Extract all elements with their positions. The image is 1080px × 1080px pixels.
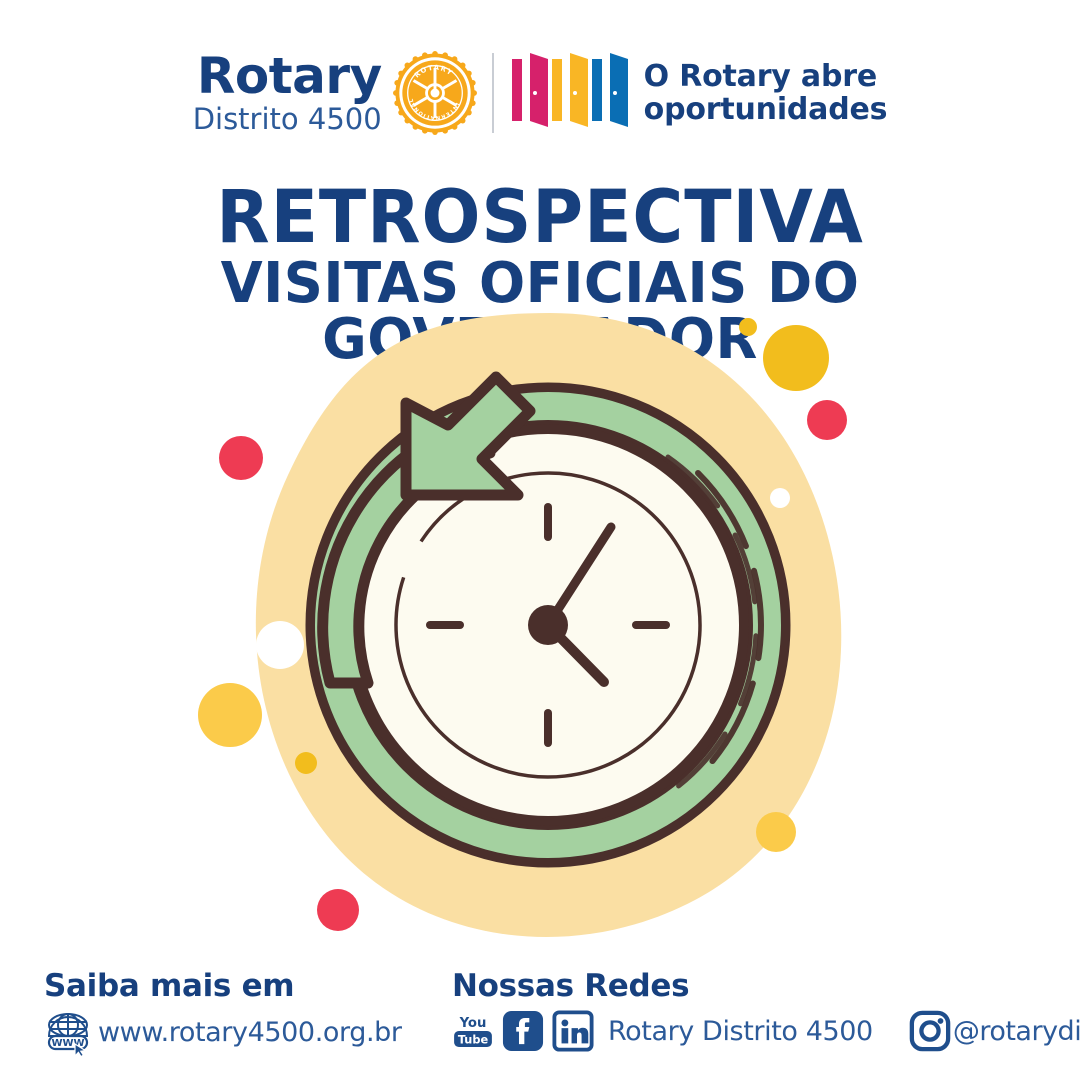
tagline-line-1: O Rotary abre <box>644 60 888 93</box>
youtube-icon[interactable]: You Tube <box>452 1014 502 1048</box>
red-dot-top-right <box>807 400 847 440</box>
rotary-wordmark: Rotary <box>197 51 382 101</box>
white-dot-right <box>770 488 790 508</box>
tagline-line-2: oportunidades <box>644 93 888 126</box>
website-row[interactable]: WWW www.rotary4500.org.br <box>44 1008 402 1056</box>
globe-www-icon: WWW <box>44 1008 92 1056</box>
red-dot-left <box>219 436 263 480</box>
social-handle-name[interactable]: Rotary Distrito 4500 <box>608 1016 873 1047</box>
svg-text:Tube: Tube <box>458 1032 489 1046</box>
white-dot-left <box>256 621 304 669</box>
rotary-brand-block: Rotary Distrito 4500 <box>193 51 392 134</box>
yellow-dot-bottom-right <box>756 812 796 852</box>
instagram-icon[interactable] <box>909 1010 953 1052</box>
header-logo-lockup: Rotary Distrito 4500 <box>0 34 1080 152</box>
yellow-dot-left-mid <box>198 683 262 747</box>
tagline-block: O Rotary abre oportunidades <box>644 60 888 126</box>
page-title: RETROSPECTIVA <box>27 183 1053 254</box>
poster-canvas: Rotary Distrito 4500 <box>0 0 1080 1080</box>
website-url[interactable]: www.rotary4500.org.br <box>98 1017 402 1048</box>
facebook-icon[interactable] <box>502 1010 552 1052</box>
rotary-district-label: Distrito 4500 <box>193 104 382 134</box>
learn-more-heading: Saiba mais em <box>44 968 402 1004</box>
logo-divider <box>492 53 494 133</box>
yellow-dot-tiny-left <box>295 752 317 774</box>
yellow-dot-large-top-right <box>763 325 829 391</box>
learn-more-group: Saiba mais em <box>44 968 402 1056</box>
clock-center-pin <box>528 605 568 645</box>
social-row: You Tube <box>452 1010 1060 1052</box>
clock-graphic <box>311 377 785 862</box>
social-group: Nossas Redes You Tube <box>452 968 1060 1052</box>
yellow-dot-small-top-right <box>739 318 757 336</box>
social-heading: Nossas Redes <box>452 968 1060 1004</box>
rotary-wheel-icon: ROTARY INTERNATIONAL <box>392 50 478 136</box>
clock-rewind-illustration <box>170 295 930 955</box>
red-dot-bottom-left <box>317 889 359 931</box>
linkedin-icon[interactable] <box>552 1010 608 1052</box>
footer: Saiba mais em <box>0 960 1080 1080</box>
open-doors-icon <box>510 53 630 133</box>
svg-text:You: You <box>459 1016 487 1031</box>
instagram-handle[interactable]: @rotarydistrito4500oficial <box>953 1016 1080 1047</box>
